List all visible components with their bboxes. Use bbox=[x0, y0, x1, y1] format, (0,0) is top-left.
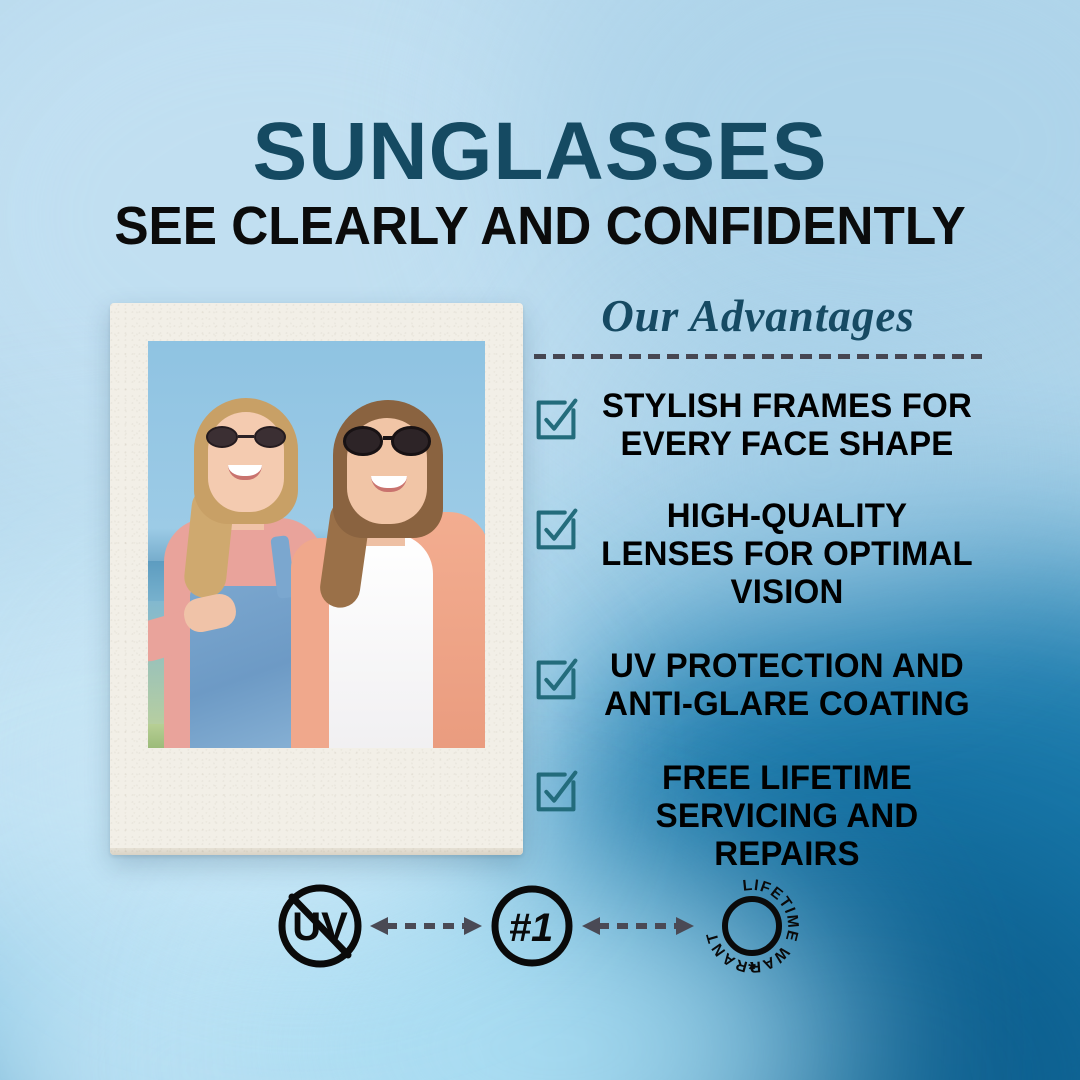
photo-alt-text: Two smiling young women wearing sunglass… bbox=[148, 748, 149, 749]
lifetime-warranty-seal-icon: LIFETIME WARRANTY * LIFETIME WARRANTY bbox=[698, 872, 806, 980]
checkbox-check-icon bbox=[528, 649, 586, 707]
arrow-connector-left bbox=[366, 913, 486, 939]
advantage-label: HIGH-QUALITY LENSES FOR OPTIMAL VISION bbox=[592, 497, 982, 611]
svg-text:*: * bbox=[748, 959, 756, 980]
badges-row: UV UV #1 #1 LIFET bbox=[0, 872, 1080, 980]
advantage-label: FREE LIFETIME SERVICING AND REPAIRS bbox=[592, 759, 982, 873]
arrow-connector-right bbox=[578, 913, 698, 939]
page-subtitle: SEE CLEARLY AND CONFIDENTLY bbox=[27, 198, 1053, 255]
blonde-sunglasses-icon bbox=[206, 426, 286, 448]
checkbox-check-icon bbox=[528, 499, 586, 557]
advantages-divider bbox=[534, 354, 982, 359]
advantage-item-3: UV PROTECTION AND ANTI-GLARE COATING bbox=[528, 647, 988, 723]
advantage-label: UV PROTECTION AND ANTI-GLARE COATING bbox=[592, 647, 982, 723]
advantages-heading: Our Advantages bbox=[528, 292, 988, 342]
checkbox-check-icon bbox=[528, 389, 586, 447]
photo-image bbox=[148, 341, 485, 748]
no-uv-icon: UV UV bbox=[274, 880, 366, 972]
advantage-item-1: STYLISH FRAMES FOR EVERY FACE SHAPE bbox=[528, 387, 988, 463]
no-uv-label: UV bbox=[274, 972, 275, 973]
number-one-label: #1 bbox=[486, 972, 487, 973]
page-title: SUNGLASSES bbox=[0, 112, 1080, 192]
advantage-item-4: FREE LIFETIME SERVICING AND REPAIRS bbox=[528, 759, 988, 873]
advantages-section: Our Advantages STYLISH FRAMES FOR EVERY … bbox=[528, 292, 988, 873]
header: SUNGLASSES SEE CLEARLY AND CONFIDENTLY bbox=[0, 112, 1080, 255]
photo-person-brunette bbox=[285, 376, 485, 748]
checkbox-check-icon bbox=[528, 761, 586, 819]
polaroid-photo-frame: Two smiling young women wearing sunglass… bbox=[110, 303, 523, 855]
advantages-list: STYLISH FRAMES FOR EVERY FACE SHAPE HIGH… bbox=[528, 387, 988, 874]
number-one-icon: #1 #1 bbox=[486, 880, 578, 972]
brunette-sunglasses-icon bbox=[343, 426, 431, 456]
advantage-item-2: HIGH-QUALITY LENSES FOR OPTIMAL VISION bbox=[528, 497, 988, 611]
advantage-label: STYLISH FRAMES FOR EVERY FACE SHAPE bbox=[592, 387, 982, 463]
svg-text:#1: #1 bbox=[509, 906, 554, 950]
